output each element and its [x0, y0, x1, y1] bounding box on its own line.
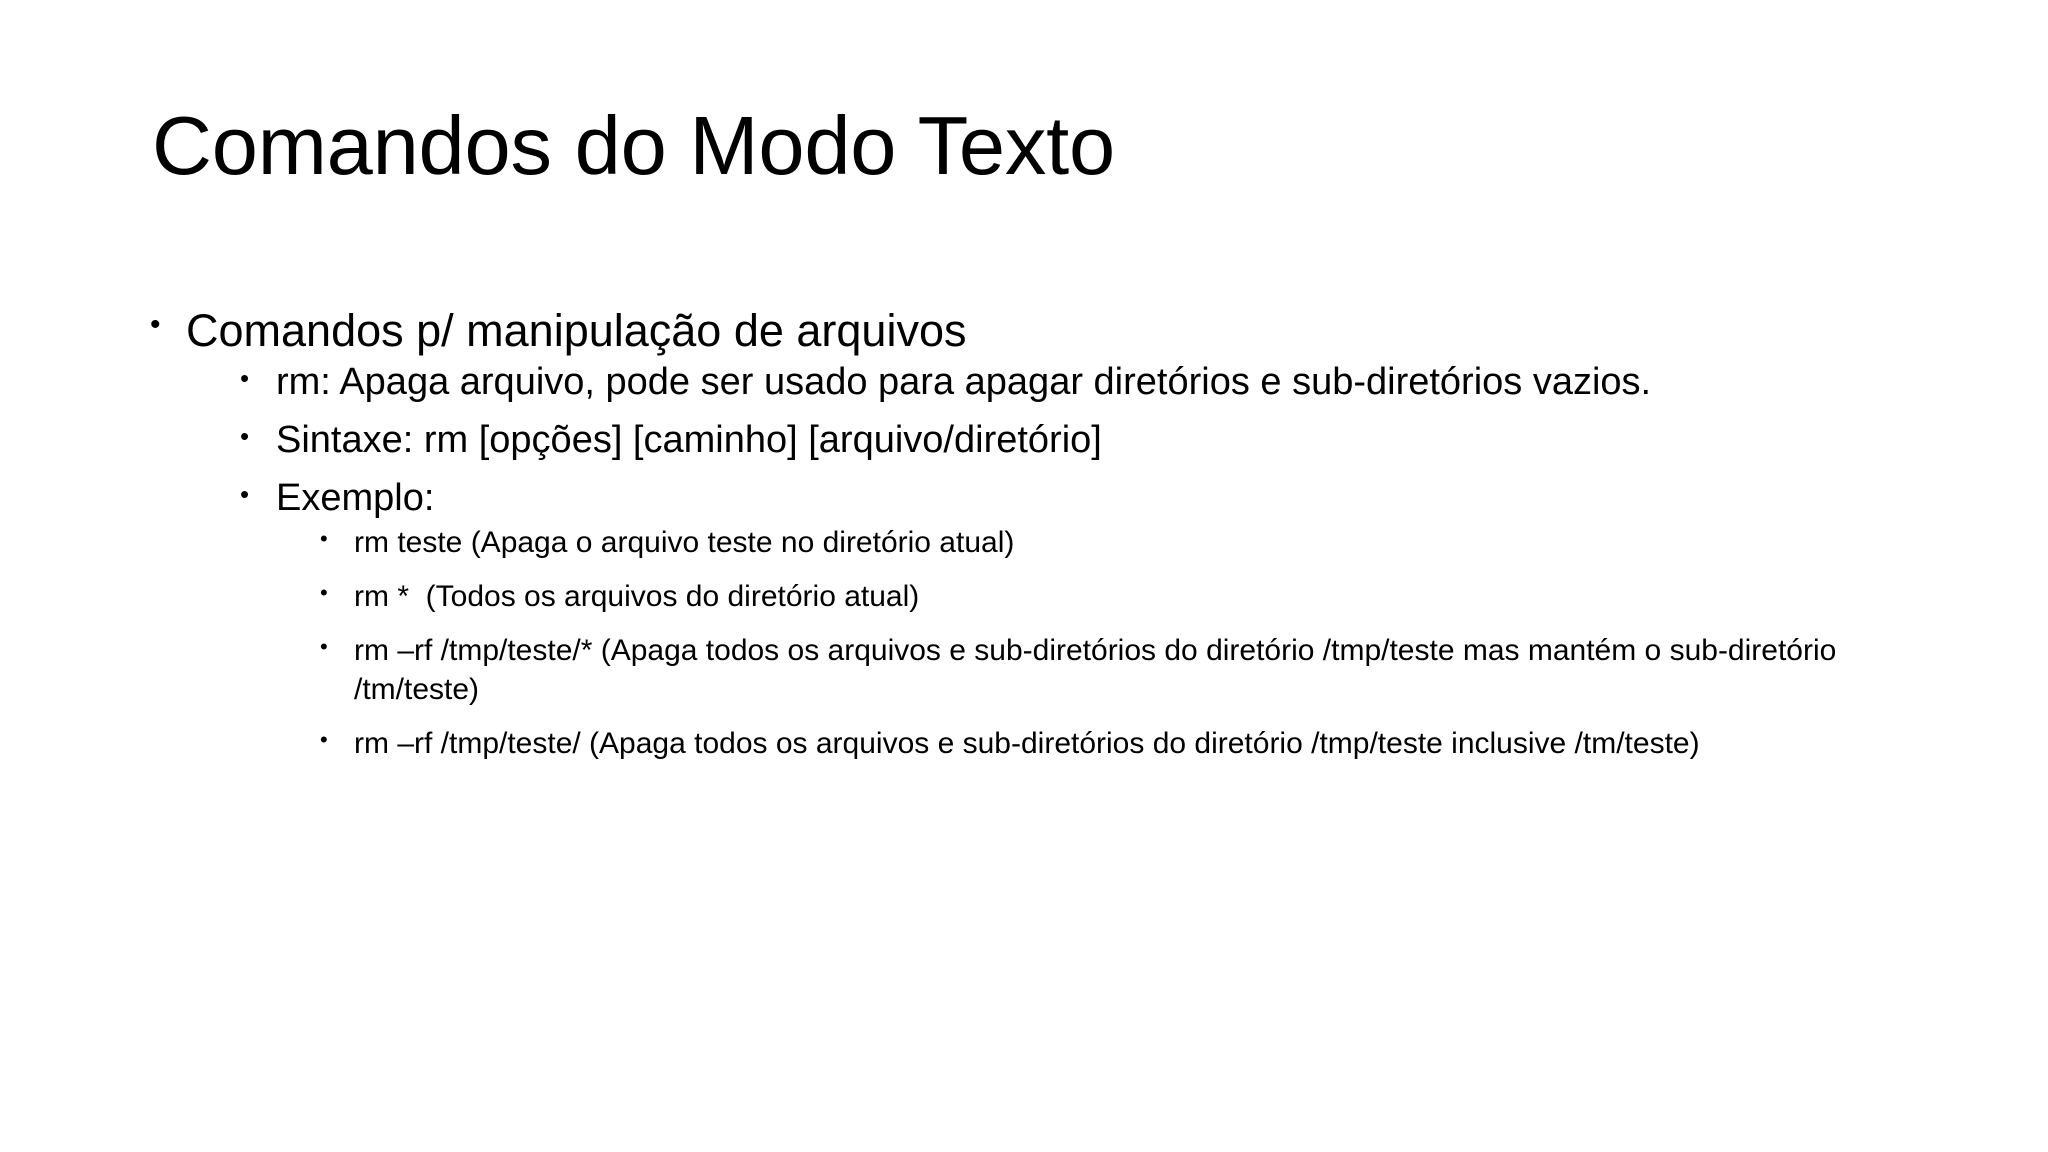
bullet-item-level-3[interactable]: • rm –rf /tmp/teste/ (Apaga todos os arq… — [320, 724, 1880, 763]
example-rm-wildcard: rm * (Todos os arquivos do diretório atu… — [354, 577, 1880, 616]
bullet-list-level-3: • rm teste (Apaga o arquivo teste no dir… — [276, 523, 1880, 763]
bullet-dot-icon: • — [240, 420, 249, 453]
example-rm-rf-dir: rm –rf /tmp/teste/ (Apaga todos os arqui… — [354, 724, 1880, 763]
bullet-dot-icon: • — [320, 726, 328, 755]
example-rm-teste: rm teste (Apaga o arquivo teste no diret… — [354, 523, 1880, 562]
bullet-item-level-3[interactable]: • rm teste (Apaga o arquivo teste no dir… — [320, 523, 1880, 562]
bullet-item-level-2[interactable]: • Exemplo: • rm teste (Apaga o arquivo t… — [240, 475, 1880, 763]
bullet-dot-icon: • — [320, 633, 328, 662]
bullet-text-examples-heading: Exemplo: — [276, 475, 1880, 523]
bullet-item-level-3[interactable]: • rm –rf /tmp/teste/* (Apaga todos os ar… — [320, 631, 1880, 709]
bullet-dot-icon: • — [320, 525, 328, 554]
bullet-dot-icon: • — [240, 362, 249, 395]
bullet-item-level-1[interactable]: • Comandos p/ manipulação de arquivos • … — [150, 304, 1880, 763]
bullet-list-level-1: • Comandos p/ manipulação de arquivos • … — [150, 304, 1880, 763]
bullet-text-rm-description: rm: Apaga arquivo, pode ser usado para a… — [276, 359, 1880, 407]
page-title: Comandos do Modo Texto — [152, 100, 1912, 193]
bullet-dot-icon: • — [320, 579, 328, 608]
slide-body-content: • Comandos p/ manipulação de arquivos • … — [150, 304, 1880, 773]
bullet-dot-icon: • — [150, 307, 161, 344]
bullet-dot-icon: • — [240, 478, 249, 511]
bullet-item-level-2[interactable]: • Sintaxe: rm [opções] [caminho] [arquiv… — [240, 417, 1880, 465]
bullet-list-level-2: • rm: Apaga arquivo, pode ser usado para… — [186, 359, 1880, 763]
example-rm-rf-wildcard: rm –rf /tmp/teste/* (Apaga todos os arqu… — [354, 631, 1880, 709]
bullet-text-level-1: Comandos p/ manipulação de arquivos — [186, 304, 1880, 359]
bullet-item-level-2[interactable]: • rm: Apaga arquivo, pode ser usado para… — [240, 359, 1880, 407]
bullet-item-level-3[interactable]: • rm * (Todos os arquivos do diretório a… — [320, 577, 1880, 616]
bullet-text-rm-syntax: Sintaxe: rm [opções] [caminho] [arquivo/… — [276, 417, 1880, 465]
slide-canvas: Comandos do Modo Texto • Comandos p/ man… — [0, 0, 2048, 1152]
